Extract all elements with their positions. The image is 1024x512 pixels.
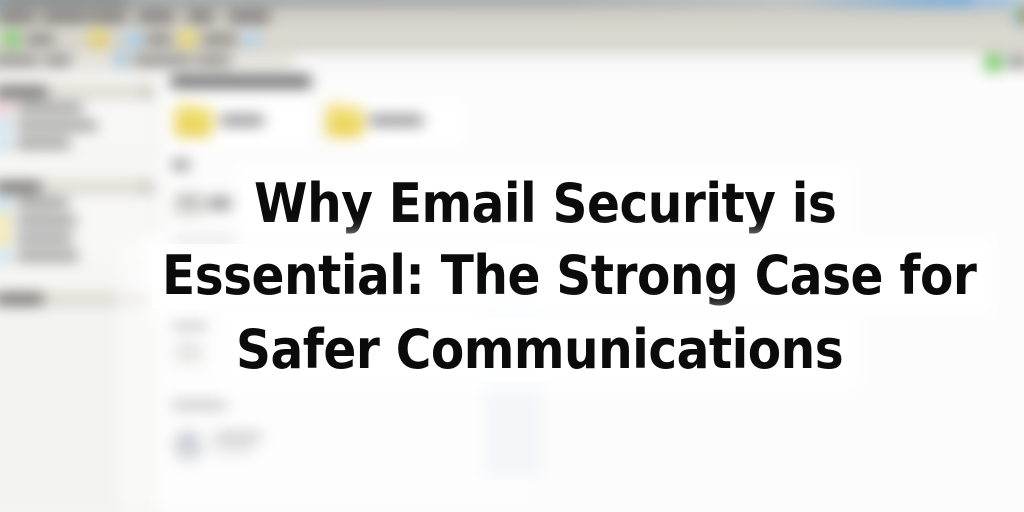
headline-line-1: Why Email Security is — [244, 172, 846, 236]
headline-line-1-text: Why Email Security is — [244, 172, 846, 236]
headline-overlay: Why Email Security is Essential: The Str… — [0, 0, 1024, 512]
headline-line-3-text: Safer Communications — [226, 318, 853, 382]
headline-line-2: Essential: The Strong Case for — [152, 244, 986, 308]
headline-line-2-text: Essential: The Strong Case for — [152, 244, 986, 308]
screenshot-canvas: Why Email Security is Essential: The Str… — [0, 0, 1024, 512]
headline-line-3: Safer Communications — [226, 318, 853, 382]
